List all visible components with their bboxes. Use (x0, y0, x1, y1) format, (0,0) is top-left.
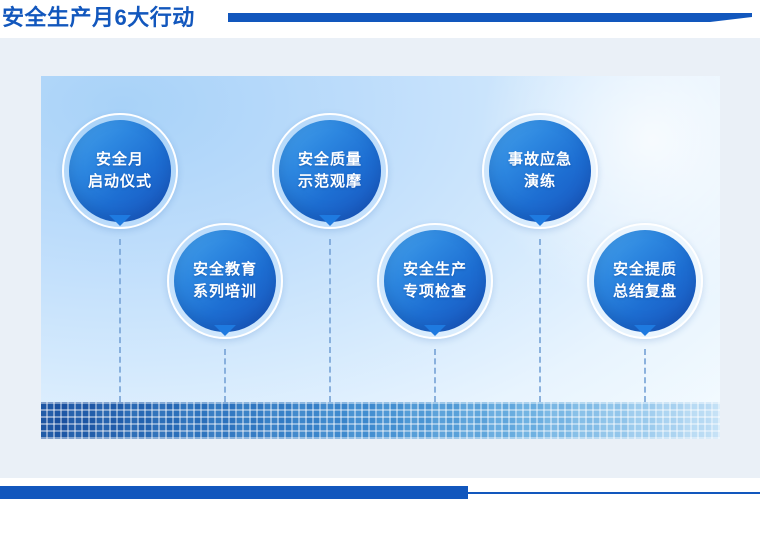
balloon-tail-triangle-icon-5 (529, 215, 551, 226)
action-label-5-line1: 事故应急 (508, 149, 572, 171)
slide-body: 安全月 启动仪式 安全教育 系列培训 安全质量 示范观摩 (0, 38, 760, 478)
connector-line-4 (434, 349, 436, 402)
action-label-1-line1: 安全月 (96, 149, 144, 171)
action-label-6-line2: 总结复盘 (613, 281, 677, 303)
header-accent-bar (228, 13, 752, 22)
action-balloon-4[interactable]: 安全生产 专项检查 (377, 223, 493, 339)
mosaic-ground-band (41, 402, 720, 439)
action-label-4-line2: 专项检查 (403, 281, 467, 303)
action-label-6-line1: 安全提质 (613, 259, 677, 281)
action-balloon-6[interactable]: 安全提质 总结复盘 (587, 223, 703, 339)
balloon-tail-triangle-icon-4 (424, 325, 446, 336)
action-label-5-line2: 演练 (524, 171, 556, 193)
balloon-tail-triangle-icon-1 (109, 215, 131, 226)
connector-line-3 (329, 239, 331, 402)
balloon-body-5: 事故应急 演练 (489, 120, 591, 222)
action-balloon-5[interactable]: 事故应急 演练 (482, 113, 598, 229)
action-label-1-line2: 启动仪式 (88, 171, 152, 193)
action-balloon-3[interactable]: 安全质量 示范观摩 (272, 113, 388, 229)
action-balloon-1[interactable]: 安全月 启动仪式 (62, 113, 178, 229)
page-header: 安全生产月6大行动 (0, 0, 760, 38)
action-label-3-line1: 安全质量 (298, 149, 362, 171)
mosaic-speckle-overlay (41, 402, 720, 439)
balloon-body-6: 安全提质 总结复盘 (594, 230, 696, 332)
illustration-panel: 安全月 启动仪式 安全教育 系列培训 安全质量 示范观摩 (41, 76, 720, 439)
action-label-4-line1: 安全生产 (403, 259, 467, 281)
action-label-2-line2: 系列培训 (193, 281, 257, 303)
action-balloon-2[interactable]: 安全教育 系列培训 (167, 223, 283, 339)
balloon-tail-triangle-icon-2 (214, 325, 236, 336)
footer-spacer (0, 478, 760, 486)
connector-line-2 (224, 349, 226, 402)
footer-accent-bar (0, 486, 468, 499)
connector-line-1 (119, 239, 121, 402)
page-title: 安全生产月6大行动 (2, 4, 195, 32)
header-accent-bar-notch-icon (744, 17, 753, 23)
action-label-2-line1: 安全教育 (193, 259, 257, 281)
footer-area (0, 499, 760, 542)
balloon-tail-triangle-icon-3 (319, 215, 341, 226)
balloon-body-3: 安全质量 示范观摩 (279, 120, 381, 222)
balloon-tail-triangle-icon-6 (634, 325, 656, 336)
action-label-3-line2: 示范观摩 (298, 171, 362, 193)
balloon-body-1: 安全月 启动仪式 (69, 120, 171, 222)
balloon-body-4: 安全生产 专项检查 (384, 230, 486, 332)
connector-line-6 (644, 349, 646, 402)
connector-line-5 (539, 239, 541, 402)
balloon-body-2: 安全教育 系列培训 (174, 230, 276, 332)
